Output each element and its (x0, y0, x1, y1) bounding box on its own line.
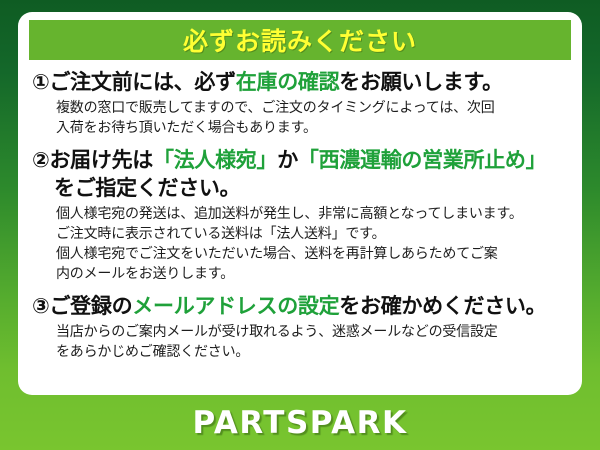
notice-item-2: ②お届け先は「法人様宛」か「西濃運輸の営業所止め」 をご指定ください。 個人様宅… (32, 147, 568, 284)
notice-item-1-body-line-1: 複数の窓口で販売してますので、ご注文のタイミングによっては、次回 (56, 99, 568, 119)
notice-item-2-heading-line2: をご指定ください。 (32, 175, 568, 203)
brand-logo-text: PARTSPARK (192, 405, 407, 441)
notice-item-2-body-line-1: 個人様宅宛の発送は、追加送料が発生し、非常に高額となってしまいます。 (56, 205, 568, 225)
notice-item-1-body: 複数の窓口で販売してますので、ご注文のタイミングによっては、次回 入荷をお待ち頂… (32, 99, 568, 139)
notice-item-3-body-line-1: 当店からのご案内メールが受け取れるよう、迷惑メールなどの受信設定 (56, 323, 568, 343)
notice-item-1-body-line-2: 入荷をお待ち頂いただく場合もあります。 (56, 119, 568, 139)
notice-item-1-heading-highlight: 在庫の確認 (236, 70, 340, 94)
notice-item-1-heading-part1: ご注文前には、必ず (49, 70, 235, 94)
content-panel: 必ずお読みください ①ご注文前には、必ず在庫の確認をお願いします。 複数の窓口で… (18, 12, 582, 395)
notice-item-3-heading-part2: をお確かめください。 (339, 294, 546, 318)
notice-item-2-marker: ② (32, 148, 49, 172)
header-banner: 必ずお読みください (29, 20, 571, 60)
notice-item-1-heading-part2: をお願いします。 (339, 70, 503, 94)
notice-poster: 必ずお読みください ①ご注文前には、必ず在庫の確認をお願いします。 複数の窓口で… (0, 0, 600, 450)
page-title: 必ずお読みください (183, 22, 417, 58)
notice-item-2-body-line-2: ご注文時に表示されている送料は「法人送料」です。 (56, 225, 568, 245)
notice-item-2-heading-middle: か (277, 148, 298, 172)
notice-item-2-heading: ②お届け先は「法人様宛」か「西濃運輸の営業所止め」 (32, 147, 568, 175)
notice-item-3-body: 当店からのご案内メールが受け取れるよう、迷惑メールなどの受信設定 をあらかじめご… (32, 323, 568, 363)
notice-item-1-marker: ① (32, 70, 49, 94)
notice-item-2-body: 個人様宅宛の発送は、追加送料が発生し、非常に高額となってしまいます。 ご注文時に… (32, 205, 568, 285)
notice-item-3-heading: ③ご登録のメールアドレスの設定をお確かめください。 (32, 293, 568, 321)
notice-item-3-marker: ③ (32, 294, 49, 318)
notice-item-list: ①ご注文前には、必ず在庫の確認をお願いします。 複数の窓口で販売してますので、ご… (28, 69, 572, 363)
notice-item-3-body-line-2: をあらかじめご確認ください。 (56, 343, 568, 363)
notice-item-3-heading-highlight: メールアドレスの設定 (132, 294, 339, 318)
notice-item-3: ③ご登録のメールアドレスの設定をお確かめください。 当店からのご案内メールが受け… (32, 293, 568, 362)
notice-item-1-heading: ①ご注文前には、必ず在庫の確認をお願いします。 (32, 69, 568, 97)
notice-item-2-body-line-3: 個人様宅宛でご注文をいただいた場合、送料を再計算しあらためてご案 (56, 245, 568, 265)
notice-item-1: ①ご注文前には、必ず在庫の確認をお願いします。 複数の窓口で販売してますので、ご… (32, 69, 568, 138)
notice-item-3-heading-part1: ご登録の (49, 294, 132, 318)
footer-bar: PARTSPARK (0, 395, 600, 450)
notice-item-2-body-line-4: 内のメールをお送りします。 (56, 265, 568, 285)
notice-item-2-heading-highlight: 「法人様宛」 (153, 148, 277, 172)
notice-item-2-heading-highlight2: 「西濃運輸の営業所止め」 (298, 148, 546, 172)
notice-item-2-heading-part1: お届け先は (49, 148, 153, 172)
